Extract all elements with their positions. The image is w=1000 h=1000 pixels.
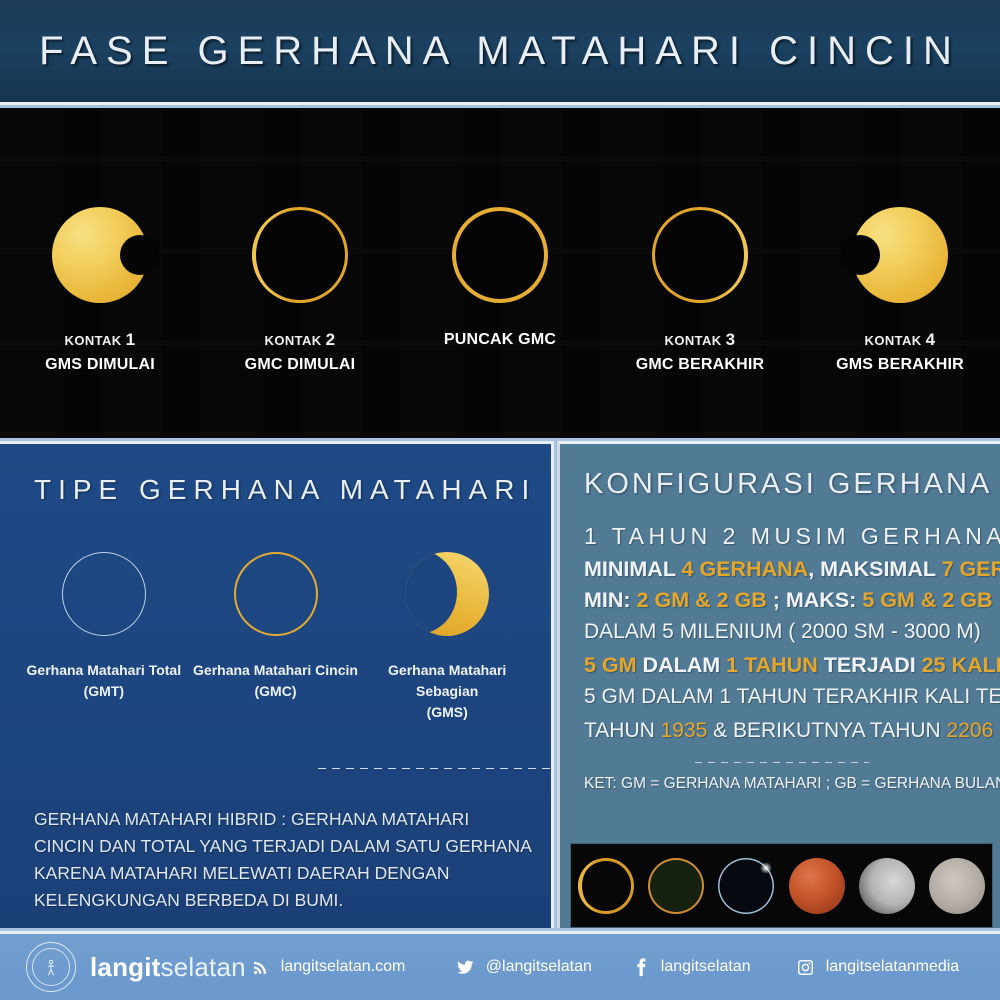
minmax2-middle: ; MAKS: <box>767 588 863 612</box>
minmax-value-max: 7 GERHANA <box>942 557 1000 581</box>
brand-wordmark: langitselatan <box>90 952 246 983</box>
tipe-gerhana-panel: TIPE GERHANA MATAHARI Gerhana Matahari T… <box>0 441 554 928</box>
phase-label-3: PUNCAK GMC <box>405 328 595 351</box>
config-line-last-a: 5 GM DALAM 1 TAHUN TERAKHIR KALI TERJADI <box>584 680 980 714</box>
type-item-gmt: Gerhana Matahari Total (GMT) <box>18 548 190 723</box>
type-abbr-gmt: (GMT) <box>18 681 190 702</box>
total-eclipse-circle-icon <box>18 548 190 640</box>
sun-bite-right-icon <box>5 200 195 310</box>
line5gm-mid2: TERJADI <box>818 653 922 677</box>
minmax2-prefix: MIN: <box>584 588 637 612</box>
line5gm-mid1: DALAM <box>637 653 727 677</box>
config-line-minmax2: MIN: 2 GM & 2 GB ; MAKS: 5 GM & 2 GB <box>584 585 980 616</box>
annular-ring-thick-left-icon <box>205 200 395 310</box>
line5gm-count: 5 GM <box>584 653 637 677</box>
type-label-gmt: Gerhana Matahari Total (GMT) <box>18 660 190 702</box>
line5gm-times: 25 KALI <box>922 653 1000 677</box>
social-instagram[interactable]: langitselatanmedia <box>795 957 1000 977</box>
phase-sub-3: PUNCAK GMC <box>405 328 595 351</box>
annular-ring-thick-right-icon <box>605 200 795 310</box>
konfigurasi-gerhana-panel: KONFIGURASI GERHANA 1 TAHUN 2 MUSIM GERH… <box>557 441 1000 928</box>
line5gm-period: 1 TAHUN <box>726 653 818 677</box>
phase-kontak-4: KONTAK 3 <box>605 328 795 353</box>
langitselatan-seal-logo <box>26 942 76 992</box>
phase-kontak-1: KONTAK 1 <box>5 328 195 353</box>
minmax-middle: , MAKSIMAL <box>808 557 941 581</box>
config-line-last-b: TAHUN 1935 & BERIKUTNYA TAHUN 2206 <box>584 714 980 748</box>
sun-bite-left-icon <box>805 200 995 310</box>
right-panel-title: KONFIGURASI GERHANA <box>560 444 1000 501</box>
lastb-middle: & BERIKUTNYA TAHUN <box>707 719 946 742</box>
social-links: langitselatan.com @langitselatan langits… <box>246 957 1000 977</box>
type-item-gmc: Gerhana Matahari Cincin (GMC) <box>190 548 362 723</box>
minmax2-value-max: 5 GM & 2 GB <box>862 588 992 612</box>
config-line-season: 1 TAHUN 2 MUSIM GERHANA <box>584 515 980 554</box>
type-item-gms: Gerhana Matahari Sebagian (GMS) <box>361 548 533 723</box>
dark-ring-thumb <box>648 858 704 914</box>
page-header: FASE GERHANA MATAHARI CINCIN <box>0 0 1000 105</box>
phase-sub-1: GMS DIMULAI <box>5 353 195 376</box>
social-website-label: langitselatan.com <box>281 958 406 976</box>
type-abbr-gmc: (GMC) <box>190 681 362 702</box>
hybrid-eclipse-note: GERHANA MATAHARI HIBRID : GERHANA MATAHA… <box>34 806 534 915</box>
config-line-milenium: DALAM 5 MILENIUM ( 2000 SM - 3000 M) <box>584 615 980 649</box>
eclipse-phase-band: KONTAK 1 GMS DIMULAI KONTAK 2 GMC DIMULA… <box>0 108 1000 438</box>
phase-item-3: PUNCAK GMC <box>405 200 595 351</box>
right-panel-divider <box>695 762 869 763</box>
brand-light: selatan <box>161 952 246 982</box>
page-footer: langitselatan langitselatan.com <box>0 931 1000 1000</box>
type-label-gms: Gerhana Matahari Sebagian (GMS) <box>361 660 533 723</box>
legend-note: KET: GM = GERHANA MATAHARI ; GB = GERHAN… <box>584 775 980 793</box>
left-panel-divider <box>318 768 550 769</box>
social-facebook-label: langitselatan <box>661 958 751 976</box>
infographic-page: FASE GERHANA MATAHARI CINCIN KONTAK 1 GM… <box>0 0 1000 1000</box>
eclipse-type-list: Gerhana Matahari Total (GMT) Gerhana Mat… <box>0 548 551 723</box>
phase-label-5: KONTAK 4 GMS BERAKHIR <box>805 328 995 376</box>
social-website[interactable]: langitselatan.com <box>250 957 455 977</box>
type-name-gmc: Gerhana Matahari Cincin <box>190 660 362 681</box>
lower-section: TIPE GERHANA MATAHARI Gerhana Matahari T… <box>0 441 1000 928</box>
facebook-icon <box>630 957 652 977</box>
blood-moon-thumb <box>789 858 845 914</box>
type-name-gms: Gerhana Matahari Sebagian <box>361 660 533 702</box>
phase-label-1: KONTAK 1 GMS DIMULAI <box>5 328 195 376</box>
diamond-ring-thumb <box>718 858 774 914</box>
brand-bold: langit <box>90 952 161 982</box>
annular-eclipse-ring-icon <box>190 548 362 640</box>
phase-item-2: KONTAK 2 GMC DIMULAI <box>205 200 395 376</box>
config-line-5gm: 5 GM DALAM 1 TAHUN TERJADI 25 KALI <box>584 650 980 681</box>
page-title: FASE GERHANA MATAHARI CINCIN <box>39 29 961 74</box>
phase-item-5: KONTAK 4 GMS BERAKHIR <box>805 200 995 376</box>
phase-sub-4: GMC BERAKHIR <box>605 353 795 376</box>
eclipse-photo-strip <box>570 843 993 928</box>
lastb-year-next: 2206 <box>947 719 994 742</box>
phase-item-1: KONTAK 1 GMS DIMULAI <box>5 200 195 376</box>
type-name-gmt: Gerhana Matahari Total <box>18 660 190 681</box>
social-facebook[interactable]: langitselatan <box>630 957 795 977</box>
phase-label-2: KONTAK 2 GMC DIMULAI <box>205 328 395 376</box>
minmax2-value-min: 2 GM & 2 GB <box>637 588 767 612</box>
config-line-minmax: MINIMAL 4 GERHANA, MAKSIMAL 7 GERHANA <box>584 554 980 585</box>
brand-block[interactable]: langitselatan <box>0 942 246 992</box>
phase-sub-5: GMS BERAKHIR <box>805 353 995 376</box>
social-instagram-label: langitselatanmedia <box>826 958 959 976</box>
lastb-year-prev: 1935 <box>661 719 708 742</box>
social-twitter-label: @langitselatan <box>486 958 592 976</box>
phase-label-4: KONTAK 3 GMC BERAKHIR <box>605 328 795 376</box>
annular-ring-even-icon <box>405 200 595 310</box>
social-twitter[interactable]: @langitselatan <box>455 957 630 977</box>
type-label-gmc: Gerhana Matahari Cincin (GMC) <box>190 660 362 702</box>
left-panel-title: TIPE GERHANA MATAHARI <box>0 444 551 506</box>
rss-icon <box>250 957 272 977</box>
instagram-icon <box>795 957 817 977</box>
partial-eclipse-crescent-icon <box>361 548 533 640</box>
twitter-icon <box>455 957 477 977</box>
phase-kontak-5: KONTAK 4 <box>805 328 995 353</box>
minmax-value-min: 4 GERHANA <box>682 557 809 581</box>
type-abbr-gms: (GMS) <box>361 702 533 723</box>
phase-kontak-2: KONTAK 2 <box>205 328 395 353</box>
phase-sub-2: GMC DIMULAI <box>205 353 395 376</box>
phase-row: KONTAK 1 GMS DIMULAI KONTAK 2 GMC DIMULA… <box>0 108 1000 438</box>
annular-crescent-thumb <box>578 858 634 914</box>
config-lines: 1 TAHUN 2 MUSIM GERHANA MINIMAL 4 GERHAN… <box>560 501 1000 793</box>
phase-item-4: KONTAK 3 GMC BERAKHIR <box>605 200 795 376</box>
lastb-prefix: TAHUN <box>584 719 661 742</box>
minmax-prefix: MINIMAL <box>584 557 682 581</box>
full-moon-thumb <box>929 858 985 914</box>
gibbous-moon-thumb <box>859 858 915 914</box>
